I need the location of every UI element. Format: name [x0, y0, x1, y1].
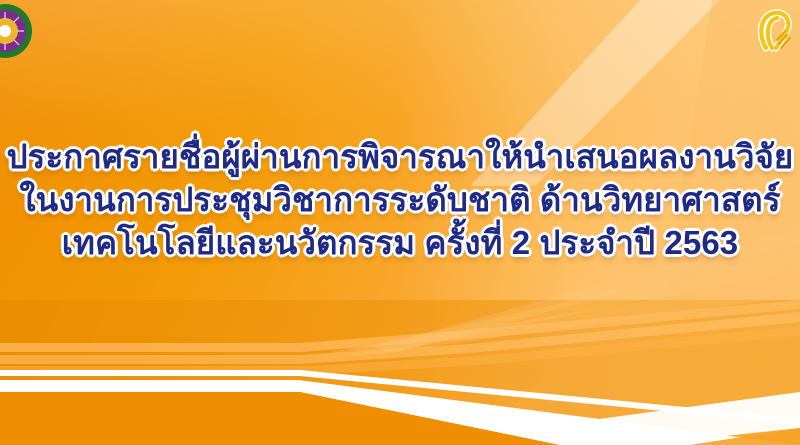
headline-line-2: ในงานการประชุมวิชาการระดับชาติ ด้านวิทยา… — [0, 179, 800, 222]
announcement-headline: ประกาศรายชื่อผู้ผ่านการพิจารณาให้นำเสนอผ… — [0, 136, 800, 265]
headline-line-1: ประกาศรายชื่อผู้ผ่านการพิจารณาให้นำเสนอผ… — [0, 136, 800, 179]
headline-line-3: เทคโนโลยีและนวัตกรรม ครั้งที่ 2 ประจำปี … — [0, 222, 800, 265]
university-seal-emblem-icon — [0, 2, 34, 60]
announcement-banner: ประกาศรายชื่อผู้ผ่านการพิจารณาให้นำเสนอผ… — [0, 0, 800, 445]
conference-ribbon-logo-icon — [752, 4, 798, 60]
